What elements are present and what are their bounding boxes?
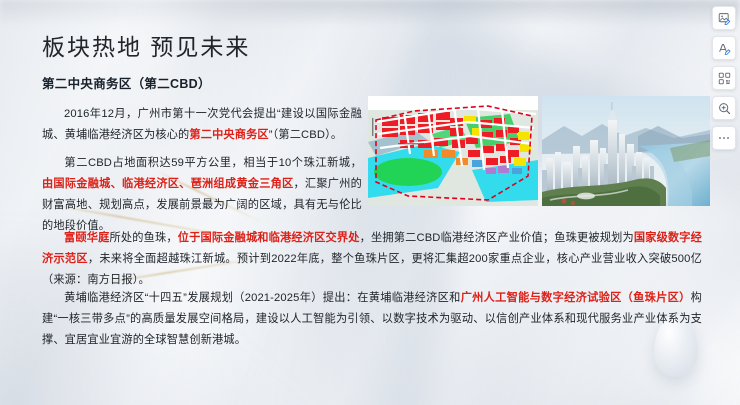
- right-floating-toolbar[interactable]: [712, 6, 736, 150]
- more-options-button[interactable]: [712, 126, 736, 150]
- p1-tail: ”（第二CBD）。: [269, 129, 342, 141]
- more-options-icon: [719, 137, 728, 139]
- paragraph-cbd-origin: 2016年12月，广州市第十一次党代会提出“建设以国际金融城、黄埔临港经济区为核…: [42, 104, 362, 146]
- p2-lead: 第二CBD占地面积达59平方公里，相当于10个珠江新城，: [64, 157, 362, 169]
- p3-mid2: ，坐拥第二CBD临港经济区产业价值；鱼珠更被规划为: [360, 232, 634, 244]
- zoning-plan-map-image: [368, 96, 538, 206]
- page-title: 板块热地 预见未来: [42, 28, 250, 62]
- p3-mid1: 所处的鱼珠，: [110, 232, 178, 244]
- paragraph-14th-five-year-plan: 黄埔临港经济区“十四五”发展规划（2021-2025年）提出：在黄埔临港经济区和…: [42, 288, 702, 351]
- p3-highlight-junction: 位于国际金融城和临港经济区交界处: [178, 232, 360, 244]
- layout-grid-icon: [718, 72, 731, 85]
- p3-highlight-project: 富颐华庭: [64, 232, 110, 244]
- text-edit-button[interactable]: [712, 36, 736, 60]
- text-edit-icon: [718, 42, 731, 55]
- layout-grid-button[interactable]: [712, 66, 736, 90]
- paragraph-cbd-area: 第二CBD占地面积达59平方公里，相当于10个珠江新城，由国际金融城、临港经济区…: [42, 153, 362, 237]
- p2-highlight: 由国际金融城、临港经济区、琶洲组成黄金三角区: [42, 178, 294, 190]
- paragraph-yuzhu-location: 富颐华庭所处的鱼珠，位于国际金融城和临港经济区交界处，坐拥第二CBD临港经济区产…: [42, 228, 702, 291]
- section-heading: 第二中央商务区（第二CBD）: [42, 73, 211, 92]
- p4-highlight-ai-zone: 广州人工智能与数字经济试验区（鱼珠片区）: [461, 292, 691, 304]
- p4-lead: 黄埔临港经济区“十四五”发展规划（2021-2025年）提出：在黄埔临港经济区和: [64, 292, 461, 304]
- zoom-in-button[interactable]: [712, 96, 736, 120]
- p1-highlight: 第二中央商务区: [189, 129, 268, 141]
- p3-tail: ，未来将全面超越珠江新城。预计到2022年底，整个鱼珠片区，更将汇集超200家重…: [42, 253, 702, 286]
- zoom-in-icon: [718, 102, 731, 115]
- image-edit-button[interactable]: [712, 6, 736, 30]
- image-edit-icon: [718, 12, 731, 25]
- slide-canvas: 板块热地 预见未来 第二中央商务区（第二CBD） 2016年12月，广州市第十一…: [0, 0, 740, 405]
- city-skyline-render-image: [542, 96, 710, 206]
